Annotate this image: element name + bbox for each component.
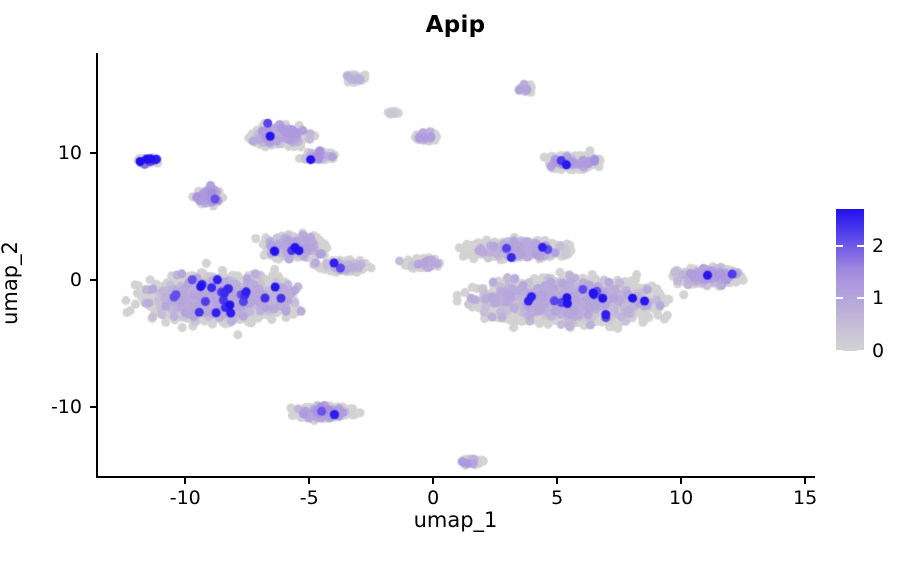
x-tick-mark	[680, 478, 682, 484]
x-tick-mark	[308, 478, 310, 484]
colorbar-tick-mark	[835, 245, 843, 247]
y-tick-mark	[90, 279, 96, 281]
x-tick-label: -5	[300, 487, 319, 509]
chart-root: Apip -10-5051015 100-10 umap_1 umap_2 01…	[0, 0, 911, 562]
x-tick-mark	[556, 478, 558, 484]
colorbar-tick-mark	[835, 350, 843, 352]
x-tick-label: -10	[170, 487, 201, 509]
x-axis-label: umap_1	[96, 508, 815, 532]
y-tick-mark	[90, 406, 96, 408]
colorbar-gradient	[836, 209, 864, 351]
x-axis-spine	[96, 476, 815, 478]
y-axis-label: umap_2	[0, 241, 22, 325]
colorbar-tick-mark	[857, 350, 865, 352]
x-tick-mark	[804, 478, 806, 484]
x-tick-label: 15	[793, 487, 817, 509]
colorbar-tick-mark	[857, 297, 865, 299]
x-tick-label: 10	[669, 487, 693, 509]
scatter-plot-canvas	[96, 53, 815, 478]
colorbar-legend[interactable]	[836, 209, 864, 351]
x-tick-label: 0	[427, 487, 439, 509]
colorbar-tick-mark	[835, 297, 843, 299]
colorbar-tick-label: 1	[872, 287, 884, 309]
y-tick-label: -10	[51, 396, 82, 418]
x-tick-mark	[432, 478, 434, 484]
colorbar-tick-mark	[857, 245, 865, 247]
y-axis-spine	[96, 53, 98, 478]
x-tick-label: 5	[551, 487, 563, 509]
page-title: Apip	[0, 12, 911, 38]
y-tick-label: 10	[58, 142, 82, 164]
colorbar-tick-label: 2	[872, 235, 884, 257]
colorbar-tick-label: 0	[872, 340, 884, 362]
y-tick-label: 0	[70, 269, 82, 291]
plot-axes: -10-5051015 100-10	[96, 53, 815, 478]
y-tick-mark	[90, 152, 96, 154]
x-tick-mark	[184, 478, 186, 484]
